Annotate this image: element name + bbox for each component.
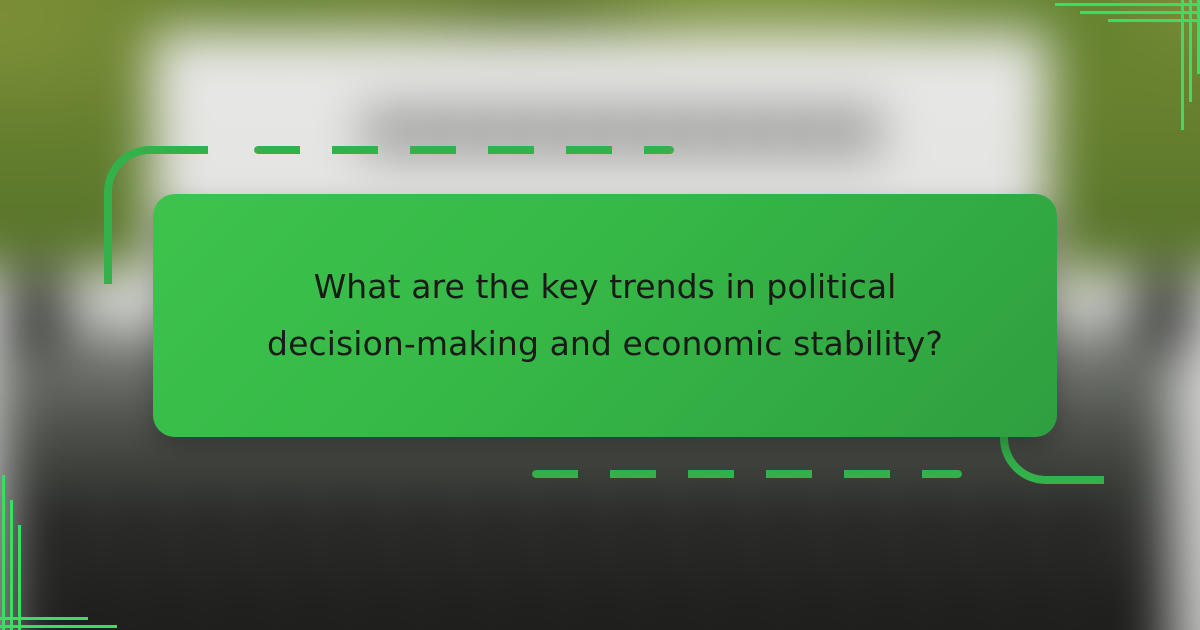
background-key-glint-2 — [70, 607, 1131, 621]
corner-line-segment — [1189, 0, 1192, 102]
dashed-rule-bottom — [532, 470, 962, 478]
corner-line-segment — [0, 617, 88, 620]
background-typewriter-knob-right — [1134, 268, 1192, 354]
quote-card: What are the key trends in political dec… — [153, 194, 1057, 437]
corner-line-segment — [18, 525, 21, 630]
corner-line-segment — [1108, 19, 1200, 22]
corner-line-segment — [10, 500, 13, 630]
quote-card-graphic: What are the key trends in political dec… — [0, 0, 1200, 630]
quote-text: What are the key trends in political dec… — [255, 259, 955, 373]
nested-corner-lines-top-right — [1050, 0, 1200, 140]
corner-line-segment — [1181, 0, 1184, 130]
corner-line-segment — [1055, 3, 1200, 6]
dashed-rule-top — [254, 146, 674, 154]
background-typewriter-knob-left — [8, 268, 66, 354]
background-key-glint-1 — [42, 520, 1130, 534]
corner-line-segment — [2, 475, 5, 630]
nested-corner-lines-bottom-left — [0, 455, 150, 630]
